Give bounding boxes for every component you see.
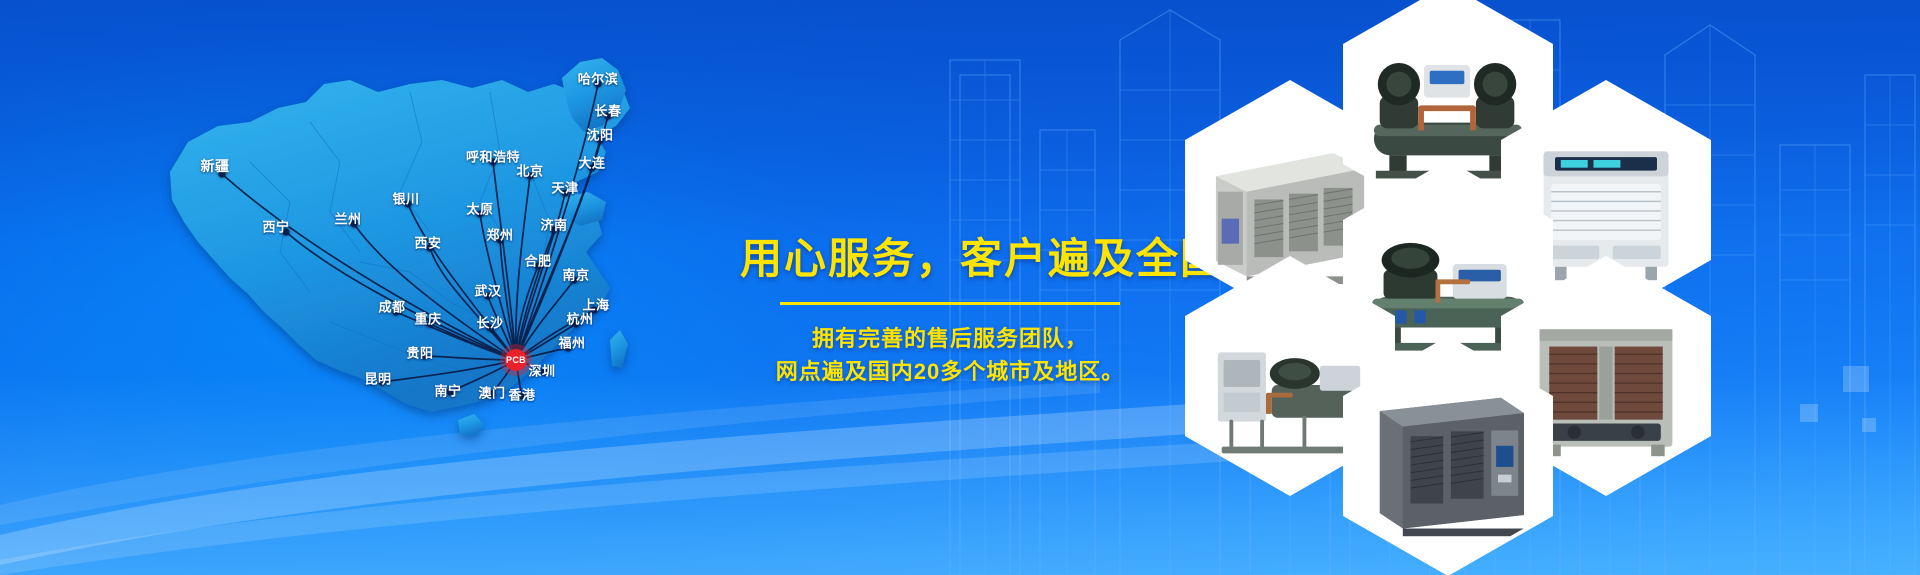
city-label-tianjin: 天津: [551, 178, 578, 197]
city-label-xianggang: 香港: [508, 385, 535, 404]
city-label-changsha: 长沙: [476, 313, 503, 332]
city-label-guiyang: 贵阳: [406, 343, 433, 362]
city-label-jinan: 济南: [540, 215, 567, 234]
city-label-changchun: 长春: [594, 101, 621, 120]
city-label-nanjing: 南京: [562, 265, 589, 284]
banner-text-block: 用心服务，客户遍及全国 拥有完善的售后服务团队， 网点遍及国内20多个城市及地区…: [740, 238, 1160, 387]
city-label-aomen: 澳门: [478, 383, 505, 402]
city-label-nanning: 南宁: [434, 381, 461, 400]
map-hub-label: PCB: [506, 355, 526, 365]
banner-headline: 用心服务，客户遍及全国: [740, 238, 1160, 280]
product-hexagon-grid: [1185, 0, 1805, 575]
city-label-shenyang: 沈阳: [586, 125, 613, 144]
map-hub-marker: PCB: [499, 343, 533, 377]
decorative-square: [1843, 366, 1869, 392]
city-label-dalian: 大连: [578, 153, 605, 172]
city-label-hangzhou: 杭州: [566, 309, 593, 328]
city-label-haerbin: 哈尔滨: [578, 69, 619, 88]
banner-subtitle-line1: 拥有完善的售后服务团队，: [740, 323, 1160, 354]
city-label-xinjiang: 新疆: [201, 156, 230, 176]
city-label-chengdu: 成都: [378, 297, 405, 316]
city-label-fuzhou: 福州: [558, 333, 585, 352]
city-label-chongqing: 重庆: [414, 309, 441, 328]
china-distribution-map: 哈尔滨 长春 沈阳 呼和浩特 北京 大连 天津 新疆 银川 太原 兰州 西宁 西…: [110, 22, 750, 452]
city-label-taiyuan: 太原: [466, 199, 493, 218]
decorative-square: [1862, 418, 1876, 432]
city-label-kunming: 昆明: [364, 369, 391, 388]
city-label-xining: 西宁: [262, 217, 289, 236]
city-label-lanzhou: 兰州: [334, 209, 361, 228]
headline-divider: [780, 302, 1120, 305]
city-label-wuhan: 武汉: [474, 281, 501, 300]
banner-subtitle-line2: 网点遍及国内20多个城市及地区。: [740, 356, 1160, 387]
city-label-beijing: 北京: [516, 161, 543, 180]
city-label-yinchuan: 银川: [392, 189, 419, 208]
city-label-huhehaote: 呼和浩特: [466, 147, 520, 166]
city-label-xian: 西安: [414, 233, 441, 252]
city-label-hefei: 合肥: [524, 251, 551, 270]
promo-banner: 哈尔滨 长春 沈阳 呼和浩特 北京 大连 天津 新疆 银川 太原 兰州 西宁 西…: [0, 0, 1920, 575]
city-label-zhengzhou: 郑州: [486, 225, 513, 244]
